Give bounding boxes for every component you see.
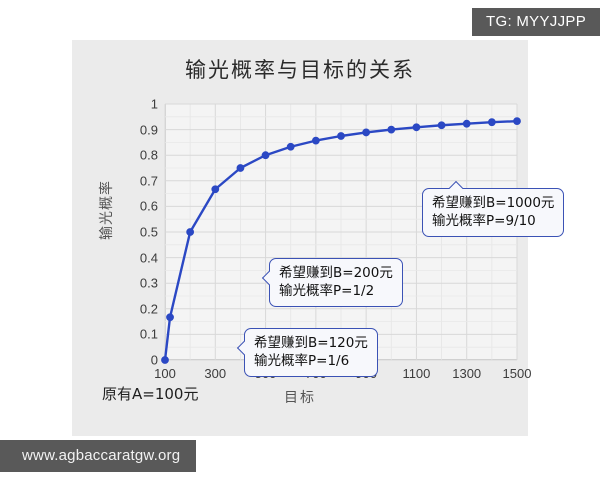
- annotation-b1000-line2: 输光概率P=9/10: [432, 212, 554, 230]
- x-tick-label: 1100: [402, 366, 430, 381]
- chart-card: 输光概率与目标的关系 输光概率 目标 原有A=100元 00.10.20.30.…: [72, 40, 528, 436]
- y-tick-label: 0.6: [140, 199, 158, 214]
- site-watermark: www.agbaccaratgw.org: [0, 440, 196, 472]
- y-tick-label: 0.1: [140, 327, 158, 342]
- chart-title: 输光概率与目标的关系: [72, 54, 528, 84]
- y-tick-label: 0.4: [140, 250, 158, 265]
- y-tick-label: 0.3: [140, 276, 158, 291]
- annotation-b120-line2: 输光概率P=1/6: [254, 352, 368, 370]
- annotation-b1000: 希望赚到B=1000元 输光概率P=9/10: [422, 188, 564, 237]
- annotation-b120: 希望赚到B=120元 输光概率P=1/6: [244, 328, 378, 377]
- y-tick-label: 0.2: [140, 301, 158, 316]
- y-tick-label: 1: [151, 97, 158, 112]
- y-tick-label: 0.9: [140, 122, 158, 137]
- annotation-b120-line1: 希望赚到B=120元: [254, 334, 368, 352]
- initial-capital-note: 原有A=100元: [102, 383, 198, 404]
- annotation-b200-line2: 输光概率P=1/2: [279, 282, 393, 300]
- annotation-b1000-line1: 希望赚到B=1000元: [432, 194, 554, 212]
- x-tick-label: 100: [154, 366, 176, 381]
- y-axis-title: 输光概率: [96, 180, 116, 240]
- annotation-b200-line1: 希望赚到B=200元: [279, 264, 393, 282]
- annotation-b200: 希望赚到B=200元 输光概率P=1/2: [269, 258, 403, 307]
- x-tick-label: 1300: [452, 366, 481, 381]
- y-tick-label: 0.8: [140, 148, 158, 163]
- y-tick-label: 0.7: [140, 173, 158, 188]
- telegram-tag-badge: TG: MYYJJPP: [472, 8, 600, 36]
- y-tick-label: 0.5: [140, 225, 158, 240]
- x-tick-label: 300: [204, 366, 226, 381]
- x-tick-label: 1500: [503, 366, 532, 381]
